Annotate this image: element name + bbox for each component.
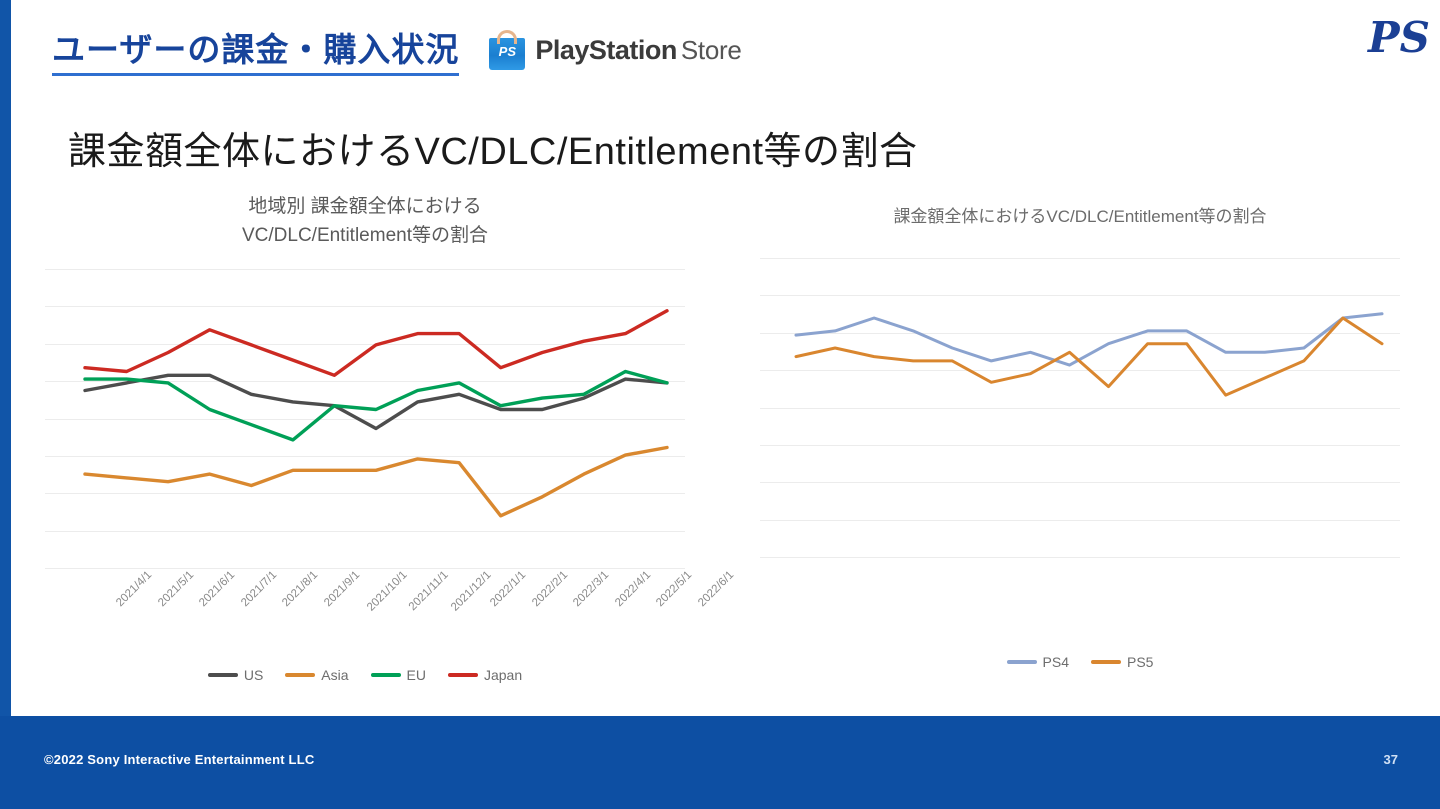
playstation-store-logo: PS PlayStation Store: [489, 30, 741, 76]
legend-item-eu[interactable]: EU: [371, 667, 426, 683]
page-number: 37: [1384, 752, 1398, 767]
slide-header: ユーザーの課金・購入状況 PS PlayStation Store: [52, 30, 742, 76]
x-axis-label: 2021/4/1: [114, 569, 154, 609]
legend-item-ps4[interactable]: PS4: [1007, 654, 1069, 670]
chart-left-legend: USAsiaEUJapan: [45, 667, 685, 683]
x-axis-label: 2021/7/1: [239, 569, 279, 609]
legend-label: US: [244, 667, 263, 683]
series-line-us: [85, 375, 667, 428]
chart-right-plot-area: [760, 258, 1400, 558]
legend-label: Japan: [484, 667, 522, 683]
x-axis-label: 2022/2/1: [530, 569, 570, 609]
series-line-asia: [85, 447, 667, 515]
chart-left-title-line1: 地域別 課金額全体における: [45, 192, 685, 221]
series-line-ps5: [796, 318, 1382, 395]
page-title: ユーザーの課金・購入状況: [52, 31, 459, 76]
x-axis-label: 2022/4/1: [613, 569, 653, 609]
left-accent-bar: [0, 0, 11, 809]
chart-platform-share: 課金額全体におけるVC/DLC/Entitlement等の割合 PS4PS5: [760, 192, 1400, 712]
x-axis-label: 2021/6/1: [197, 569, 237, 609]
x-axis-label: 2022/1/1: [488, 569, 528, 609]
series-line-japan: [85, 311, 667, 376]
copyright-text: ©2022 Sony Interactive Entertainment LLC: [44, 752, 314, 767]
x-axis-label: 2021/9/1: [322, 569, 362, 609]
ps-logo-icon: PS: [1368, 14, 1416, 62]
legend-label: Asia: [321, 667, 348, 683]
chart-left-title: 地域別 課金額全体における VC/DLC/Entitlement等の割合: [45, 192, 685, 251]
chart-right-series-lines: [760, 258, 1400, 558]
logo-text-store: Store: [681, 35, 742, 66]
main-title: 課金額全体におけるVC/DLC/Entitlement等の割合: [68, 120, 918, 175]
chart-left-x-axis: 2021/4/12021/5/12021/6/12021/7/12021/8/1…: [45, 569, 685, 649]
chart-right-title: 課金額全体におけるVC/DLC/Entitlement等の割合: [760, 204, 1400, 230]
x-axis-label: 2021/12/1: [449, 569, 494, 614]
legend-swatch-icon: [1007, 660, 1037, 664]
legend-item-ps5[interactable]: PS5: [1091, 654, 1153, 670]
x-axis-label: 2022/6/1: [696, 569, 736, 609]
legend-label: EU: [407, 667, 426, 683]
legend-label: PS5: [1127, 654, 1153, 670]
chart-left-plot-area: [45, 269, 685, 569]
legend-item-asia[interactable]: Asia: [285, 667, 348, 683]
slide: ユーザーの課金・購入状況 PS PlayStation Store PS 課金額…: [0, 0, 1440, 809]
x-axis-label: 2021/5/1: [156, 569, 196, 609]
slide-footer: ©2022 Sony Interactive Entertainment LLC…: [0, 716, 1440, 809]
logo-text-playstation: PlayStation: [535, 35, 677, 66]
chart-right-legend: PS4PS5: [760, 654, 1400, 670]
x-axis-label: 2022/3/1: [571, 569, 611, 609]
x-axis-label: 2021/8/1: [280, 569, 320, 609]
x-axis-label: 2021/11/1: [407, 569, 451, 613]
x-axis-label: 2022/5/1: [655, 569, 695, 609]
chart-left-title-line2: VC/DLC/Entitlement等の割合: [45, 221, 685, 250]
legend-swatch-icon: [371, 673, 401, 677]
legend-item-japan[interactable]: Japan: [448, 667, 522, 683]
chart-regional-share: 地域別 課金額全体における VC/DLC/Entitlement等の割合 202…: [45, 192, 685, 712]
legend-label: PS4: [1043, 654, 1069, 670]
legend-swatch-icon: [285, 673, 315, 677]
shopping-bag-icon: PS: [489, 30, 525, 70]
legend-swatch-icon: [208, 673, 238, 677]
legend-item-us[interactable]: US: [208, 667, 263, 683]
legend-swatch-icon: [448, 673, 478, 677]
chart-left-series-lines: [45, 269, 685, 569]
chart-right-plot-wrap: [760, 258, 1400, 558]
chart-left-plot-wrap: 2021/4/12021/5/12021/6/12021/7/12021/8/1…: [45, 269, 685, 649]
x-axis-label: 2021/10/1: [365, 569, 410, 614]
legend-swatch-icon: [1091, 660, 1121, 664]
